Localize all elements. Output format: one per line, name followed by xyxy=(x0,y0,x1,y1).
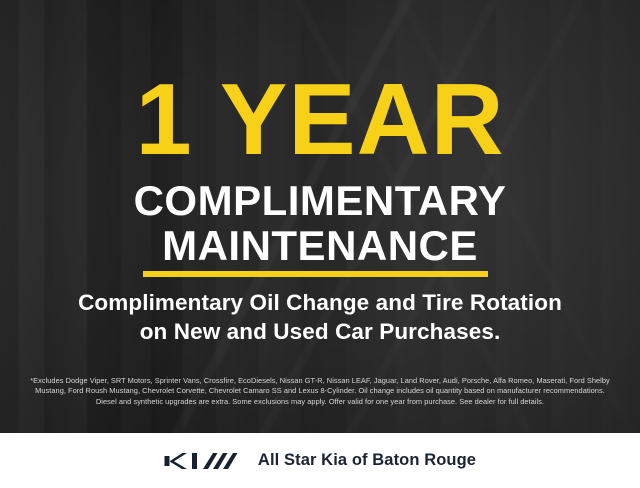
promotional-banner: 1 YEAR COMPLIMENTARY MAINTENANCE Complim… xyxy=(0,0,640,488)
disclaimer-line-1: *Excludes Dodge Viper, SRT Motors, Sprin… xyxy=(14,376,626,386)
footer-bar: All Star Kia of Baton Rouge xyxy=(0,433,640,488)
tagline: Complimentary Oil Change and Tire Rotati… xyxy=(0,289,640,347)
tagline-line-1: Complimentary Oil Change and Tire Rotati… xyxy=(0,289,640,318)
hero-section: 1 YEAR COMPLIMENTARY MAINTENANCE Complim… xyxy=(0,0,640,433)
headline-subtitle-line-1: COMPLIMENTARY xyxy=(0,178,640,223)
dealer-name: All Star Kia of Baton Rouge xyxy=(258,451,476,470)
headline-subtitle-line-2: MAINTENANCE xyxy=(0,223,640,268)
kia-logo-icon xyxy=(164,450,242,472)
tagline-line-2: on New and Used Car Purchases. xyxy=(0,318,640,347)
headline-subtitle: COMPLIMENTARY MAINTENANCE xyxy=(0,178,640,269)
disclaimer-line-2: Mustang, Ford Roush Mustang, Chevrolet C… xyxy=(14,386,626,396)
headline-year: 1 YEAR xyxy=(0,70,640,171)
disclaimer-text: *Excludes Dodge Viper, SRT Motors, Sprin… xyxy=(14,376,626,407)
disclaimer-line-3: Diesel and synthetic upgrades are extra.… xyxy=(14,397,626,407)
yellow-divider-bar xyxy=(143,271,488,277)
hero-copy: 1 YEAR COMPLIMENTARY MAINTENANCE Complim… xyxy=(0,0,640,433)
